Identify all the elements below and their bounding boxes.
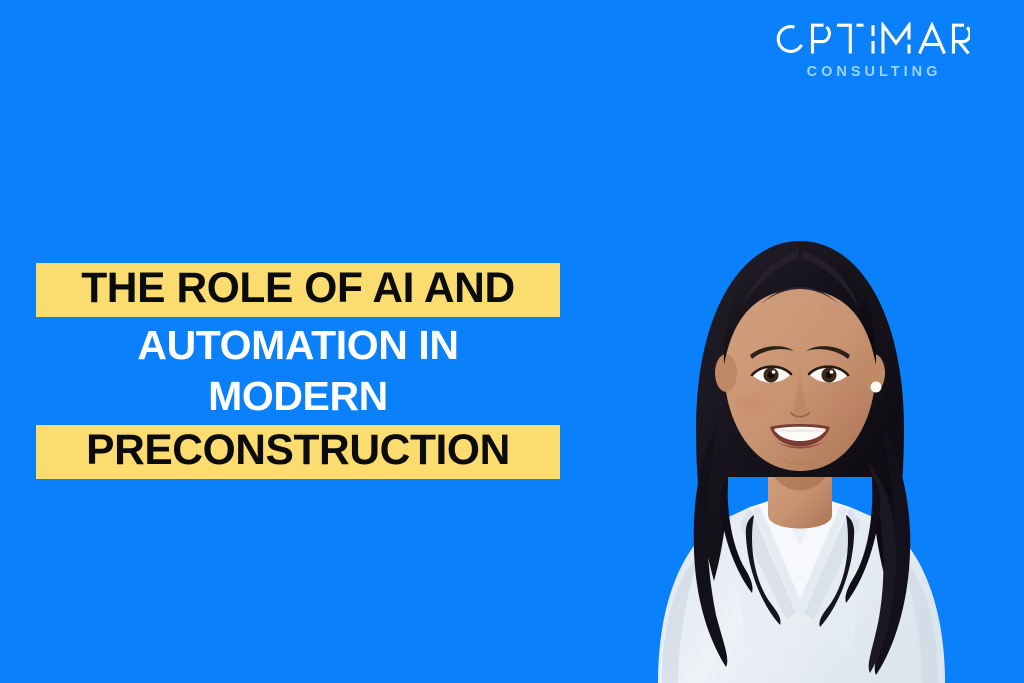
headline-line-4: PRECONSTRUCTION <box>36 425 560 479</box>
portrait-photo <box>600 215 1000 683</box>
optimar-wordmark-icon <box>774 22 970 56</box>
optimar-logo: CONSULTING <box>774 22 970 80</box>
headline-line-1: THE ROLE OF AI AND <box>36 263 560 317</box>
promo-banner: CONSULTING THE ROLE OF AI AND AUTOMATION… <box>0 0 1024 683</box>
headline-line-3: MODERN <box>36 371 560 422</box>
headline: THE ROLE OF AI AND AUTOMATION IN MODERN … <box>36 263 560 479</box>
headline-line-2: AUTOMATION IN <box>36 320 560 371</box>
optimar-tagline: CONSULTING <box>774 65 970 80</box>
